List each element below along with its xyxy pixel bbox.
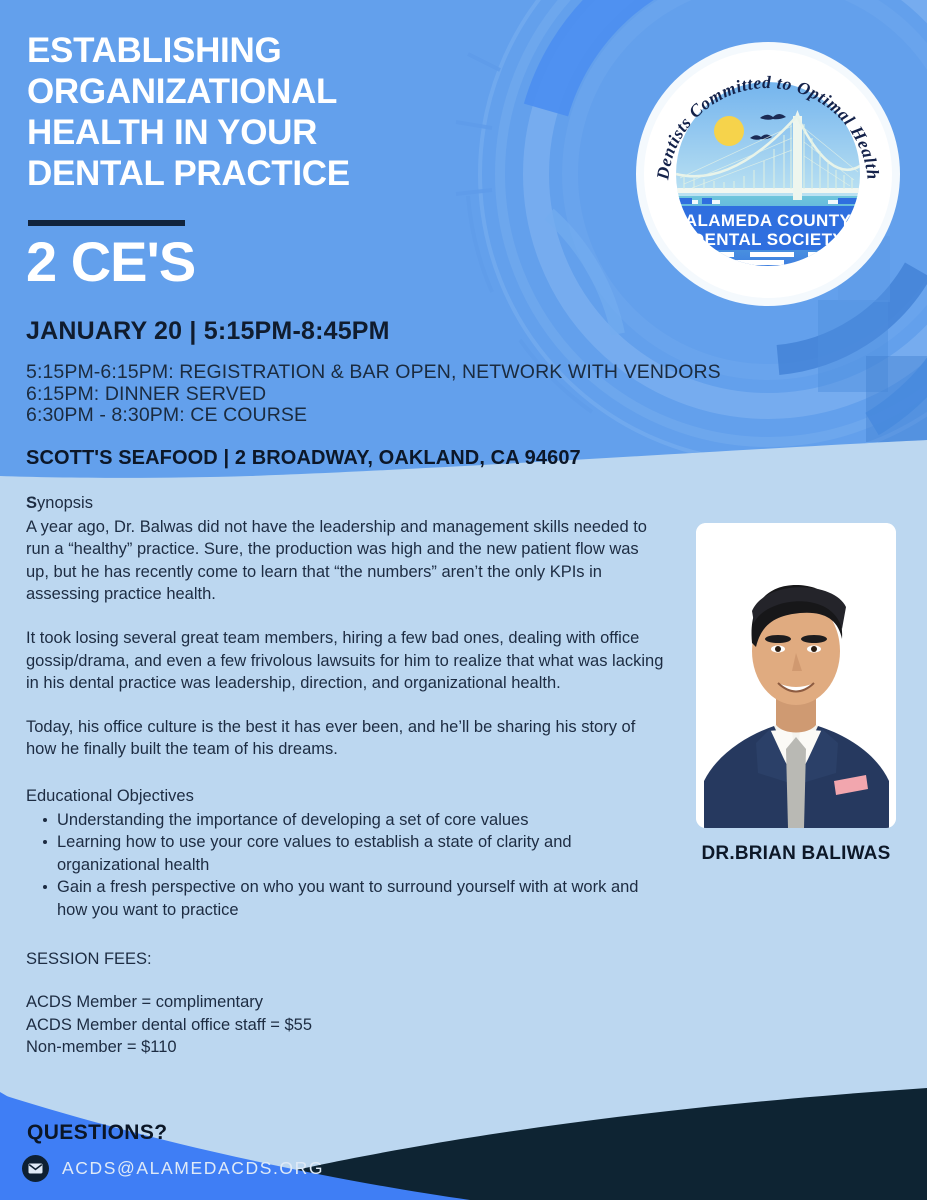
event-venue: SCOTT'S SEAFOOD | 2 BROADWAY, OAKLAND, C… (26, 447, 581, 470)
event-schedule: 5:15PM-6:15PM: REGISTRATION & BAR OPEN, … (26, 362, 721, 427)
list-item: Learning how to use your core values to … (26, 831, 666, 876)
synopsis-heading-rest: ynopsis (37, 494, 93, 512)
title-line-4: DENTAL PRACTICE (27, 153, 507, 194)
schedule-item: 5:15PM-6:15PM: REGISTRATION & BAR OPEN, … (26, 362, 721, 384)
objectives-heading: Educational Objectives (26, 785, 666, 808)
contact-email-row[interactable]: ACDS@ALAMEDACDS.ORG (22, 1155, 324, 1182)
title-block: ESTABLISHING ORGANIZATIONAL HEALTH IN YO… (27, 30, 507, 194)
synopsis-heading: Synopsis (26, 492, 666, 515)
synopsis-heading-initial: S (26, 494, 37, 512)
fee-line: ACDS Member = complimentary (26, 991, 666, 1014)
fees-list: ACDS Member = complimentary ACDS Member … (26, 991, 666, 1059)
contact-email-text[interactable]: ACDS@ALAMEDACDS.ORG (62, 1158, 324, 1179)
acds-logo: ALAMEDA COUNTY DENTAL SOCIETY Dentists C… (632, 38, 904, 310)
speaker-portrait-illustration (696, 523, 896, 828)
logo-banner-line-2: DENTAL SOCIETY (692, 230, 845, 249)
objectives-list: Understanding the importance of developi… (26, 809, 666, 922)
synopsis-paragraph: It took losing several great team member… (26, 627, 666, 695)
schedule-item: 6:15PM: DINNER SERVED (26, 384, 721, 406)
fees-heading: SESSION FEES: (26, 948, 666, 971)
title-line-1: ESTABLISHING (27, 30, 507, 71)
envelope-glyph (28, 1163, 43, 1174)
title-line-2: ORGANIZATIONAL (27, 71, 507, 112)
logo-banner-line-1: ALAMEDA COUNTY (685, 211, 852, 230)
synopsis-paragraph: Today, his office culture is the best it… (26, 716, 666, 761)
speaker-block: DR.BRIAN BALIWAS (696, 523, 896, 865)
list-item: Gain a fresh perspective on who you want… (26, 876, 666, 921)
title-line-3: HEALTH IN YOUR (27, 112, 507, 153)
questions-label: QUESTIONS? (27, 1121, 168, 1145)
event-datetime: JANUARY 20 | 5:15PM-8:45PM (26, 316, 390, 346)
flyer-poster: ESTABLISHING ORGANIZATIONAL HEALTH IN YO… (0, 0, 927, 1200)
synopsis-paragraph: A year ago, Dr. Balwas did not have the … (26, 516, 666, 606)
speaker-photo (696, 523, 896, 828)
list-item: Understanding the importance of developi… (26, 809, 666, 832)
schedule-item: 6:30PM - 8:30PM: CE COURSE (26, 405, 721, 427)
ce-credit-count: 2 CE'S (26, 232, 195, 292)
envelope-icon (22, 1155, 49, 1182)
title-divider-rule (28, 220, 185, 226)
speaker-name: DR.BRIAN BALIWAS (696, 843, 896, 865)
content-body: Synopsis A year ago, Dr. Balwas did not … (26, 492, 666, 1059)
acds-logo-badge: ALAMEDA COUNTY DENTAL SOCIETY Dentists C… (632, 38, 904, 310)
fee-line: ACDS Member dental office staff = $55 (26, 1014, 666, 1037)
fee-line: Non-member = $110 (26, 1036, 666, 1059)
